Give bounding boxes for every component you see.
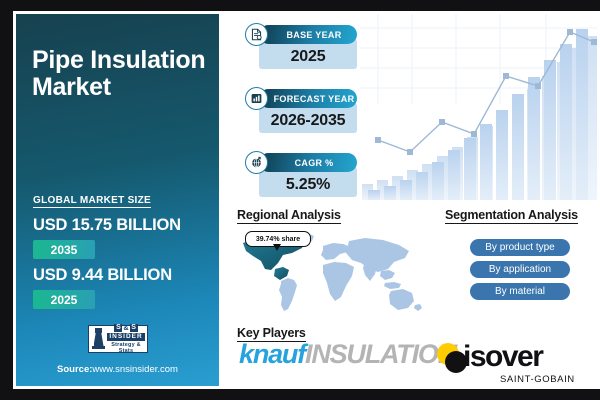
report-document-icon xyxy=(245,23,268,46)
knauf-insulation-logo: knaufINSULATION xyxy=(239,341,456,368)
kpi-forecast-year-header: FORECAST YEAR xyxy=(259,89,357,108)
sns-initials: S & S xyxy=(107,324,145,332)
growth-globe-icon xyxy=(245,151,268,174)
regional-analysis-heading: Regional Analysis xyxy=(237,208,341,224)
kpi-forecast-year-label: FORECAST YEAR xyxy=(274,94,355,104)
source-prefix: Source: xyxy=(57,364,92,375)
infographic-card: Pipe Insulation Market GLOBAL MARKET SIZ… xyxy=(13,11,600,389)
kpi-base-year: BASE YEAR 2025 xyxy=(245,25,357,69)
isover-logo: isover SAINT-GOBAIN xyxy=(437,341,587,386)
kpi-cagr-header: CAGR % xyxy=(259,153,357,172)
page-title-line-1: Pipe Insulation xyxy=(32,47,217,74)
page-title-line-2: Market xyxy=(32,74,217,101)
left-summary-panel: Pipe Insulation Market GLOBAL MARKET SIZ… xyxy=(16,14,219,386)
market-size-year-2035: 2035 xyxy=(33,240,95,259)
source-url: www.snsinsider.com xyxy=(92,364,178,375)
kpi-forecast-year: FORECAST YEAR 2026-2035 xyxy=(245,89,357,133)
segmentation-item-material[interactable]: By material xyxy=(470,283,570,300)
central-america-highlight xyxy=(274,267,289,280)
callout-pointer-icon xyxy=(273,244,281,251)
sns-initial-right: S xyxy=(130,324,138,332)
source-line: Source:www.snsinsider.com xyxy=(16,364,219,375)
lighthouse-icon xyxy=(91,327,106,351)
growth-chart-svg xyxy=(360,14,597,200)
sns-insider-logo: S & S INSIDER Strategy & Stats xyxy=(88,325,148,353)
segmentation-item-product-type[interactable]: By product type xyxy=(470,239,570,256)
growth-chart xyxy=(360,14,597,200)
knauf-wordmark: knauf xyxy=(239,339,305,369)
world-map: 39.74% share xyxy=(235,229,430,321)
kpi-base-year-label: BASE YEAR xyxy=(286,30,341,40)
insulation-wordmark: INSULATION xyxy=(305,339,456,369)
segmentation-analysis-heading: Segmentation Analysis xyxy=(445,208,578,224)
sns-tagline: Strategy & Stats xyxy=(107,342,145,354)
sns-ampersand: & xyxy=(123,325,128,332)
segmentation-item-application[interactable]: By application xyxy=(470,261,570,278)
isover-wordmark: isover xyxy=(463,342,542,372)
bar-chart-icon xyxy=(245,87,268,110)
sns-initial-left: S xyxy=(114,324,122,332)
market-size-value-2035: USD 15.75 BILLION xyxy=(33,216,181,235)
kpi-cagr-label: CAGR % xyxy=(295,158,334,168)
saint-gobain-text: SAINT-GOBAIN xyxy=(500,374,575,385)
sns-insider-wordmark: S & S INSIDER Strategy & Stats xyxy=(107,324,145,354)
kpi-cagr: CAGR % 5.25% xyxy=(245,153,357,197)
kpi-base-year-header: BASE YEAR xyxy=(259,25,357,44)
market-size-value-2025: USD 9.44 BILLION xyxy=(33,266,172,285)
page-title: Pipe Insulation Market xyxy=(32,47,217,101)
global-market-size-label: GLOBAL MARKET SIZE xyxy=(33,195,151,208)
market-size-year-2025: 2025 xyxy=(33,290,95,309)
infographic-root: Pipe Insulation Market GLOBAL MARKET SIZ… xyxy=(0,0,600,400)
sns-insider-text: INSIDER xyxy=(107,333,145,341)
